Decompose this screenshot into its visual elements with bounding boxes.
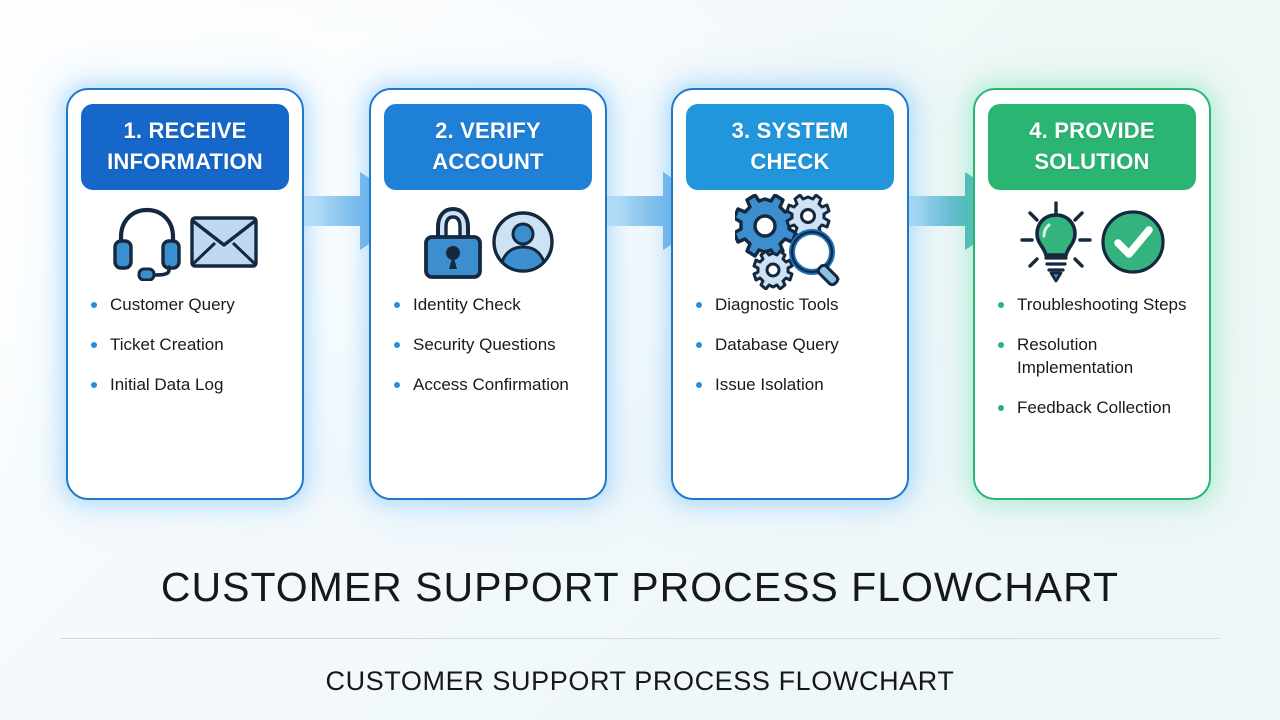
page-subtitle: CUSTOMER SUPPORT PROCESS FLOWCHART: [0, 666, 1280, 697]
process-step-card-1[interactable]: 1. RECEIVE INFORMATION Customer Query Ti…: [66, 88, 304, 500]
step-2-header: 2. VERIFY ACCOUNT: [384, 104, 592, 190]
headset-icon: [111, 203, 183, 281]
step-4-icon-group: [988, 190, 1196, 294]
page-title: CUSTOMER SUPPORT PROCESS FLOWCHART: [0, 565, 1280, 610]
step-3-bullet-list: Diagnostic Tools Database Query Issue Is…: [686, 294, 894, 414]
padlock-icon: [421, 203, 485, 281]
process-step-card-2[interactable]: 2. VERIFY ACCOUNT Identity Check Securit…: [369, 88, 607, 500]
step-4-bullet-list: Troubleshooting Steps Resolution Impleme…: [988, 294, 1196, 437]
process-step-card-3[interactable]: 3. SYSTEM CHECK: [671, 88, 909, 500]
list-item: Customer Query: [89, 294, 285, 317]
lightbulb-icon: [1018, 200, 1094, 284]
list-item: Database Query: [694, 334, 890, 357]
title-block: CUSTOMER SUPPORT PROCESS FLOWCHART CUSTO…: [0, 565, 1280, 697]
title-divider: [60, 638, 1220, 639]
step-2-bullet-list: Identity Check Security Questions Access…: [384, 294, 592, 414]
list-item: Identity Check: [392, 294, 588, 317]
step-3-header: 3. SYSTEM CHECK: [686, 104, 894, 190]
step-2-icon-group: [384, 190, 592, 294]
step-1-icon-group: [81, 190, 289, 294]
list-item: Troubleshooting Steps: [996, 294, 1192, 317]
process-flow-row: 1. RECEIVE INFORMATION Customer Query Ti…: [0, 88, 1280, 502]
list-item: Ticket Creation: [89, 334, 285, 357]
user-avatar-icon: [491, 210, 555, 274]
step-1-header: 1. RECEIVE INFORMATION: [81, 104, 289, 190]
list-item: Initial Data Log: [89, 374, 285, 397]
envelope-icon: [189, 214, 259, 270]
list-item: Access Confirmation: [392, 374, 588, 397]
list-item: Resolution Implementation: [996, 334, 1192, 380]
list-item: Security Questions: [392, 334, 588, 357]
gears-icon: [735, 194, 845, 290]
check-circle-icon: [1100, 209, 1166, 275]
step-3-icon-group: [686, 190, 894, 294]
step-4-header: 4. PROVIDE SOLUTION: [988, 104, 1196, 190]
process-step-card-4[interactable]: 4. PROVIDE SOLUTION: [973, 88, 1211, 500]
list-item: Issue Isolation: [694, 374, 890, 397]
list-item: Diagnostic Tools: [694, 294, 890, 317]
magnifier-icon: [792, 232, 839, 286]
list-item: Feedback Collection: [996, 397, 1192, 420]
step-1-bullet-list: Customer Query Ticket Creation Initial D…: [81, 294, 289, 414]
